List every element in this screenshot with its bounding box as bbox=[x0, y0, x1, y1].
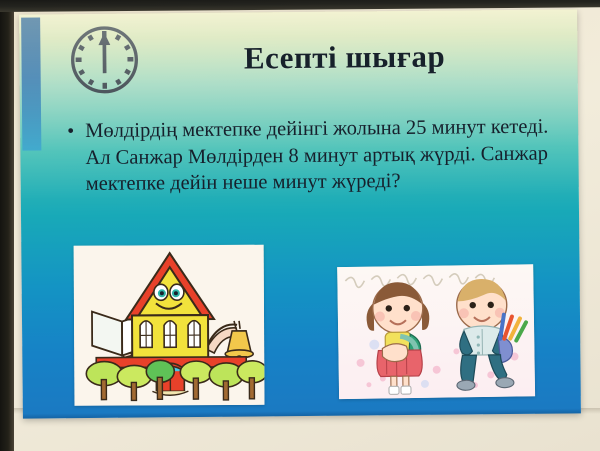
school-building-image bbox=[74, 245, 265, 406]
page-title: Есепті шығар bbox=[159, 38, 529, 78]
screen-bezel-left bbox=[0, 0, 14, 451]
accent-bar bbox=[21, 17, 41, 150]
bullet-marker: • bbox=[67, 118, 75, 198]
problem-text: Мөлдірдің мектепке дейінгі жолына 25 мин… bbox=[85, 113, 566, 197]
clock-icon bbox=[67, 23, 142, 98]
photo-of-presentation-slide: Есепті шығар • Мөлдірдің мектепке дейінг… bbox=[0, 0, 600, 451]
presentation-slide: Есепті шығар • Мөлдірдің мектепке дейінг… bbox=[19, 9, 581, 418]
bullet-item: • Мөлдірдің мектепке дейінгі жолына 25 м… bbox=[67, 113, 566, 197]
schoolchildren-image bbox=[337, 264, 535, 399]
